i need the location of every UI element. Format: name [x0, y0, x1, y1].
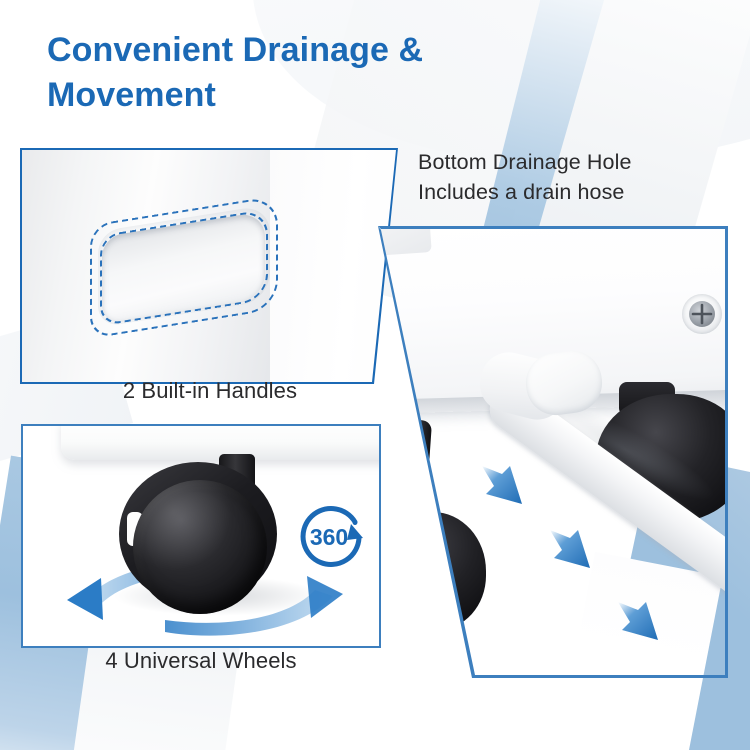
360-badge-degree: ° — [352, 518, 358, 535]
caster-wheel — [133, 480, 267, 614]
page-title: Convenient Drainage & Movement — [47, 28, 687, 118]
flow-arrow-2 — [544, 524, 600, 580]
panel-bottom-drainage-hole — [376, 224, 730, 680]
left-leg — [402, 419, 432, 538]
drainage-heading-line-1: Bottom Drainage Hole — [418, 148, 718, 178]
infographic-canvas: Convenient Drainage & Movement Bottom Dr… — [0, 0, 750, 750]
drainage-heading-line-2: Includes a drain hose — [418, 178, 718, 208]
screw-cross-icon — [689, 301, 715, 327]
drainage-heading: Bottom Drainage Hole Includes a drain ho… — [418, 148, 718, 207]
caption-built-in-handles: 2 Built-in Handles — [20, 378, 400, 404]
caption-universal-wheels: 4 Universal Wheels — [21, 648, 381, 674]
flow-arrow-1 — [476, 460, 532, 516]
panel-built-in-handles — [20, 148, 400, 384]
360-degree-icon: 360 ° — [293, 498, 369, 574]
drainage-photo — [376, 224, 730, 680]
flow-arrow-3 — [612, 596, 668, 652]
handles-photo — [20, 148, 400, 384]
page-title-line-2: Movement — [47, 73, 687, 118]
360-badge-number: 360 — [310, 524, 348, 550]
panel-universal-wheels: 360 ° — [21, 424, 381, 648]
page-title-line-1: Convenient Drainage & — [47, 31, 423, 69]
left-caster-wheel — [380, 512, 486, 630]
